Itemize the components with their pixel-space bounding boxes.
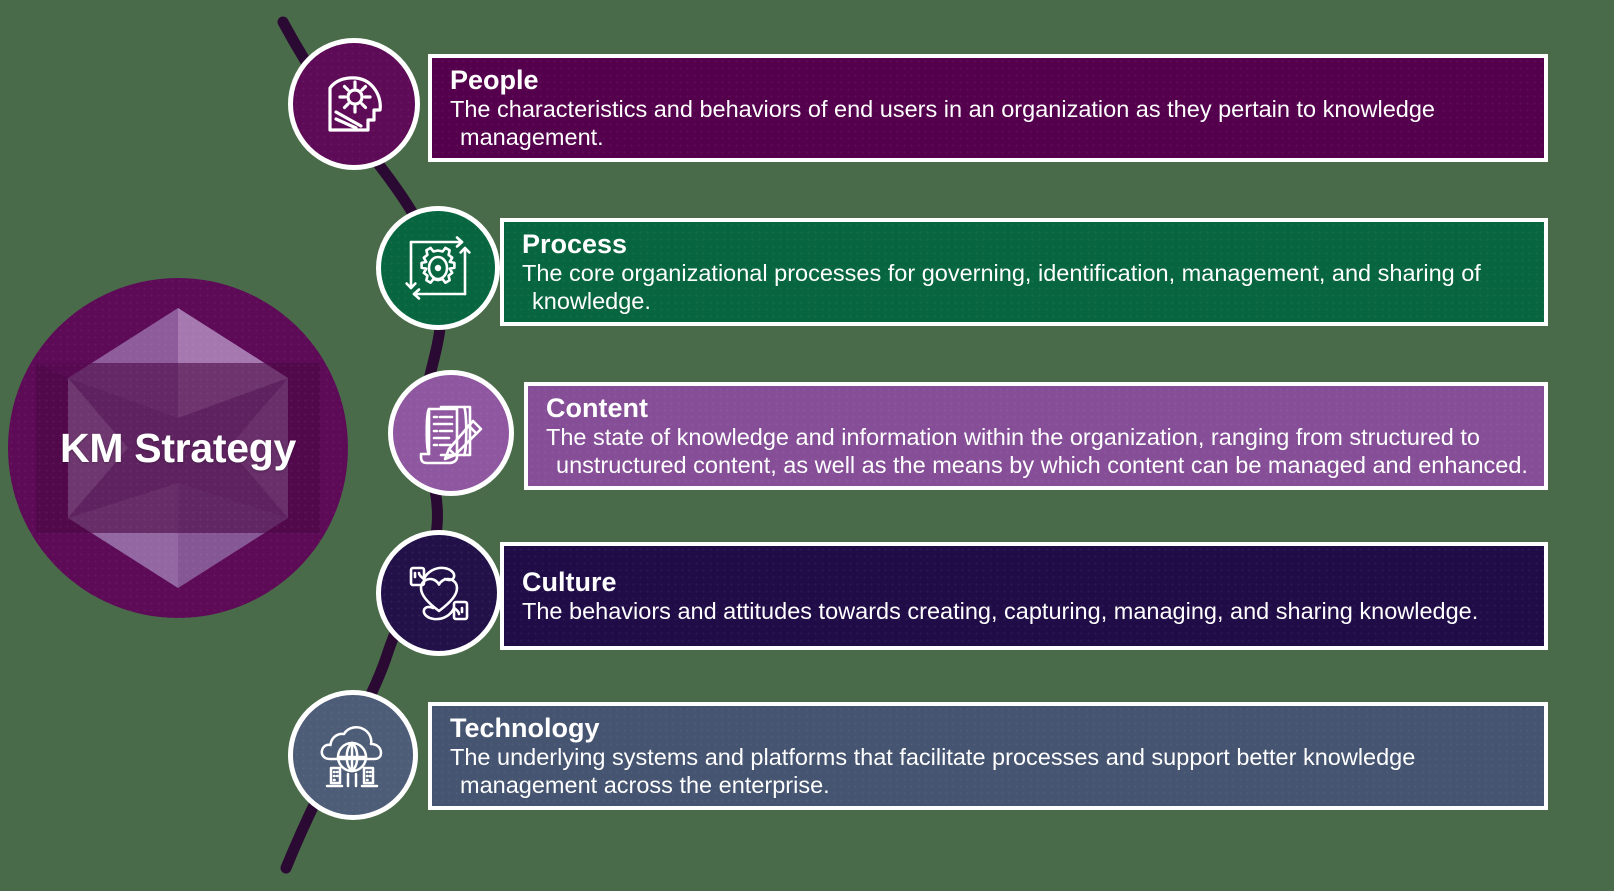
row-title-process: Process	[522, 229, 1528, 259]
hands-exchanging-heart-icon	[399, 553, 479, 633]
row-desc-people: The characteristics and behaviors of end…	[450, 96, 1528, 151]
row-title-people: People	[450, 65, 1528, 95]
bar-people[interactable]: People The characteristics and behaviors…	[428, 54, 1548, 162]
row-desc-culture: The behaviors and attitudes towards crea…	[522, 598, 1478, 625]
cloud-globe-servers-icon	[313, 715, 393, 795]
bar-process[interactable]: Process The core organizational processe…	[500, 218, 1548, 326]
icon-circle-people[interactable]	[288, 38, 420, 170]
km-strategy-diagram: KM Strategy People The characteristics a…	[0, 0, 1614, 891]
row-title-content: Content	[546, 393, 1530, 423]
icon-circle-technology[interactable]	[288, 690, 418, 820]
icon-circle-content[interactable]	[388, 370, 514, 496]
km-strategy-hub: KM Strategy	[8, 278, 348, 618]
icon-circle-process[interactable]	[376, 206, 500, 330]
row-title-culture: Culture	[522, 567, 1478, 597]
row-desc-process: The core organizational processes for go…	[522, 260, 1528, 315]
hub-label: KM Strategy	[60, 425, 296, 472]
bar-technology[interactable]: Technology The underlying systems and pl…	[428, 702, 1548, 810]
document-with-pencil-icon	[411, 393, 491, 473]
icon-circle-culture[interactable]	[376, 530, 502, 656]
head-with-sun-icon	[316, 66, 392, 142]
row-title-technology: Technology	[450, 713, 1528, 743]
bar-content[interactable]: Content The state of knowledge and infor…	[524, 382, 1548, 490]
row-desc-technology: The underlying systems and platforms tha…	[450, 744, 1528, 799]
bar-culture[interactable]: Culture The behaviors and attitudes towa…	[500, 542, 1548, 650]
row-desc-content: The state of knowledge and information w…	[546, 424, 1530, 479]
gear-with-cycle-arrows-icon	[399, 229, 477, 307]
